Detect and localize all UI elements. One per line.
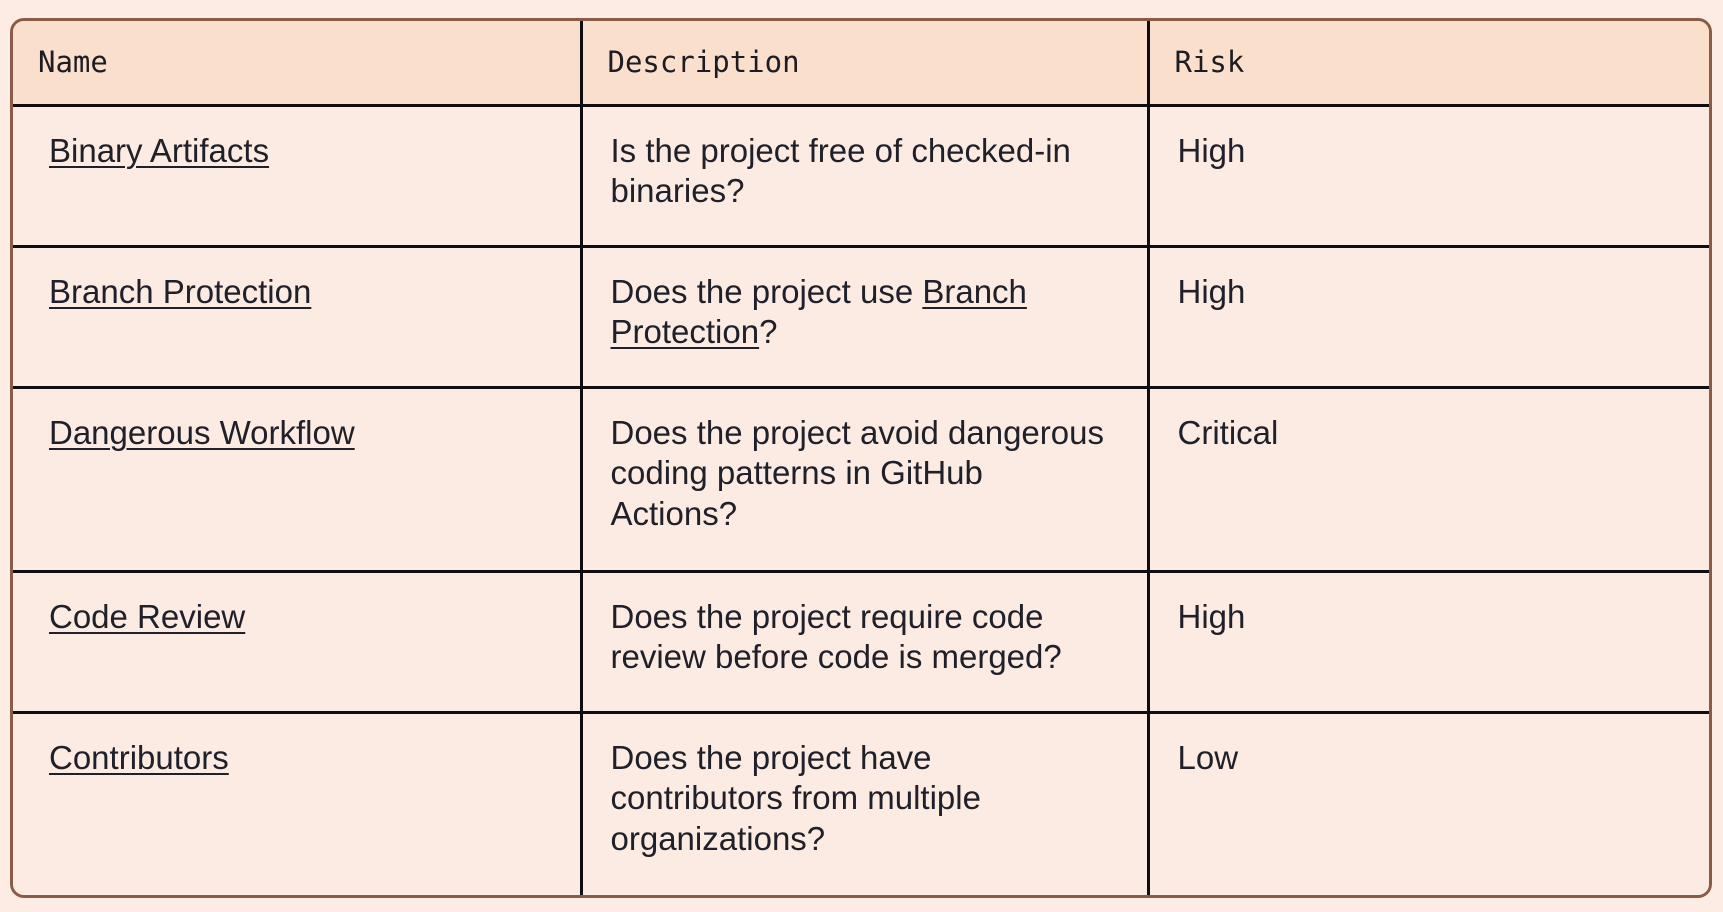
cell-name: Contributors [13, 712, 581, 895]
cell-name: Dangerous Workflow [13, 387, 581, 571]
table-row: Binary Artifacts Is the project free of … [13, 105, 1712, 246]
risk-level: Critical [1178, 413, 1279, 454]
risk-level: Low [1178, 738, 1239, 779]
description-prefix: Does the project avoid dangerous coding … [611, 414, 1105, 532]
scorecard-table-container: Name Description Risk Binary Artifacts I… [10, 18, 1712, 898]
description-prefix: Does the project have contributors from … [611, 739, 981, 857]
description-suffix: ? [759, 313, 777, 350]
description-prefix: Is the project free of checked-in binari… [611, 132, 1071, 210]
risk-level: High [1178, 597, 1246, 638]
cell-name: Branch Protection [13, 246, 581, 387]
column-header-risk: Risk [1148, 21, 1712, 105]
cell-description: Does the project use Branch Protection? [581, 246, 1148, 387]
cell-risk: High [1148, 105, 1712, 246]
description-prefix: Does the project require code review bef… [611, 598, 1062, 676]
page-root: Name Description Risk Binary Artifacts I… [0, 0, 1723, 912]
table-header: Name Description Risk [13, 21, 1712, 105]
table-body: Binary Artifacts Is the project free of … [13, 105, 1712, 895]
check-name-link[interactable]: Dangerous Workflow [49, 414, 355, 451]
table-row: Code Review Does the project require cod… [13, 571, 1712, 712]
check-name-link[interactable]: Code Review [49, 598, 245, 635]
description-prefix: Does the project use [611, 273, 923, 310]
cell-risk: High [1148, 246, 1712, 387]
column-header-description: Description [581, 21, 1148, 105]
cell-risk: High [1148, 571, 1712, 712]
table-row: Branch Protection Does the project use B… [13, 246, 1712, 387]
cell-risk: Critical [1148, 387, 1712, 571]
table-row: Dangerous Workflow Does the project avoi… [13, 387, 1712, 571]
cell-description: Is the project free of checked-in binari… [581, 105, 1148, 246]
scorecard-table: Name Description Risk Binary Artifacts I… [13, 21, 1712, 895]
cell-name: Code Review [13, 571, 581, 712]
risk-level: High [1178, 272, 1246, 313]
check-name-link[interactable]: Contributors [49, 739, 229, 776]
cell-risk: Low [1148, 712, 1712, 895]
cell-description: Does the project require code review bef… [581, 571, 1148, 712]
column-header-name: Name [13, 21, 581, 105]
check-name-link[interactable]: Binary Artifacts [49, 132, 269, 169]
cell-name: Binary Artifacts [13, 105, 581, 246]
check-name-link[interactable]: Branch Protection [49, 273, 311, 310]
table-row: Contributors Does the project have contr… [13, 712, 1712, 895]
cell-description: Does the project avoid dangerous coding … [581, 387, 1148, 571]
header-row: Name Description Risk [13, 21, 1712, 105]
risk-level: High [1178, 131, 1246, 172]
cell-description: Does the project have contributors from … [581, 712, 1148, 895]
